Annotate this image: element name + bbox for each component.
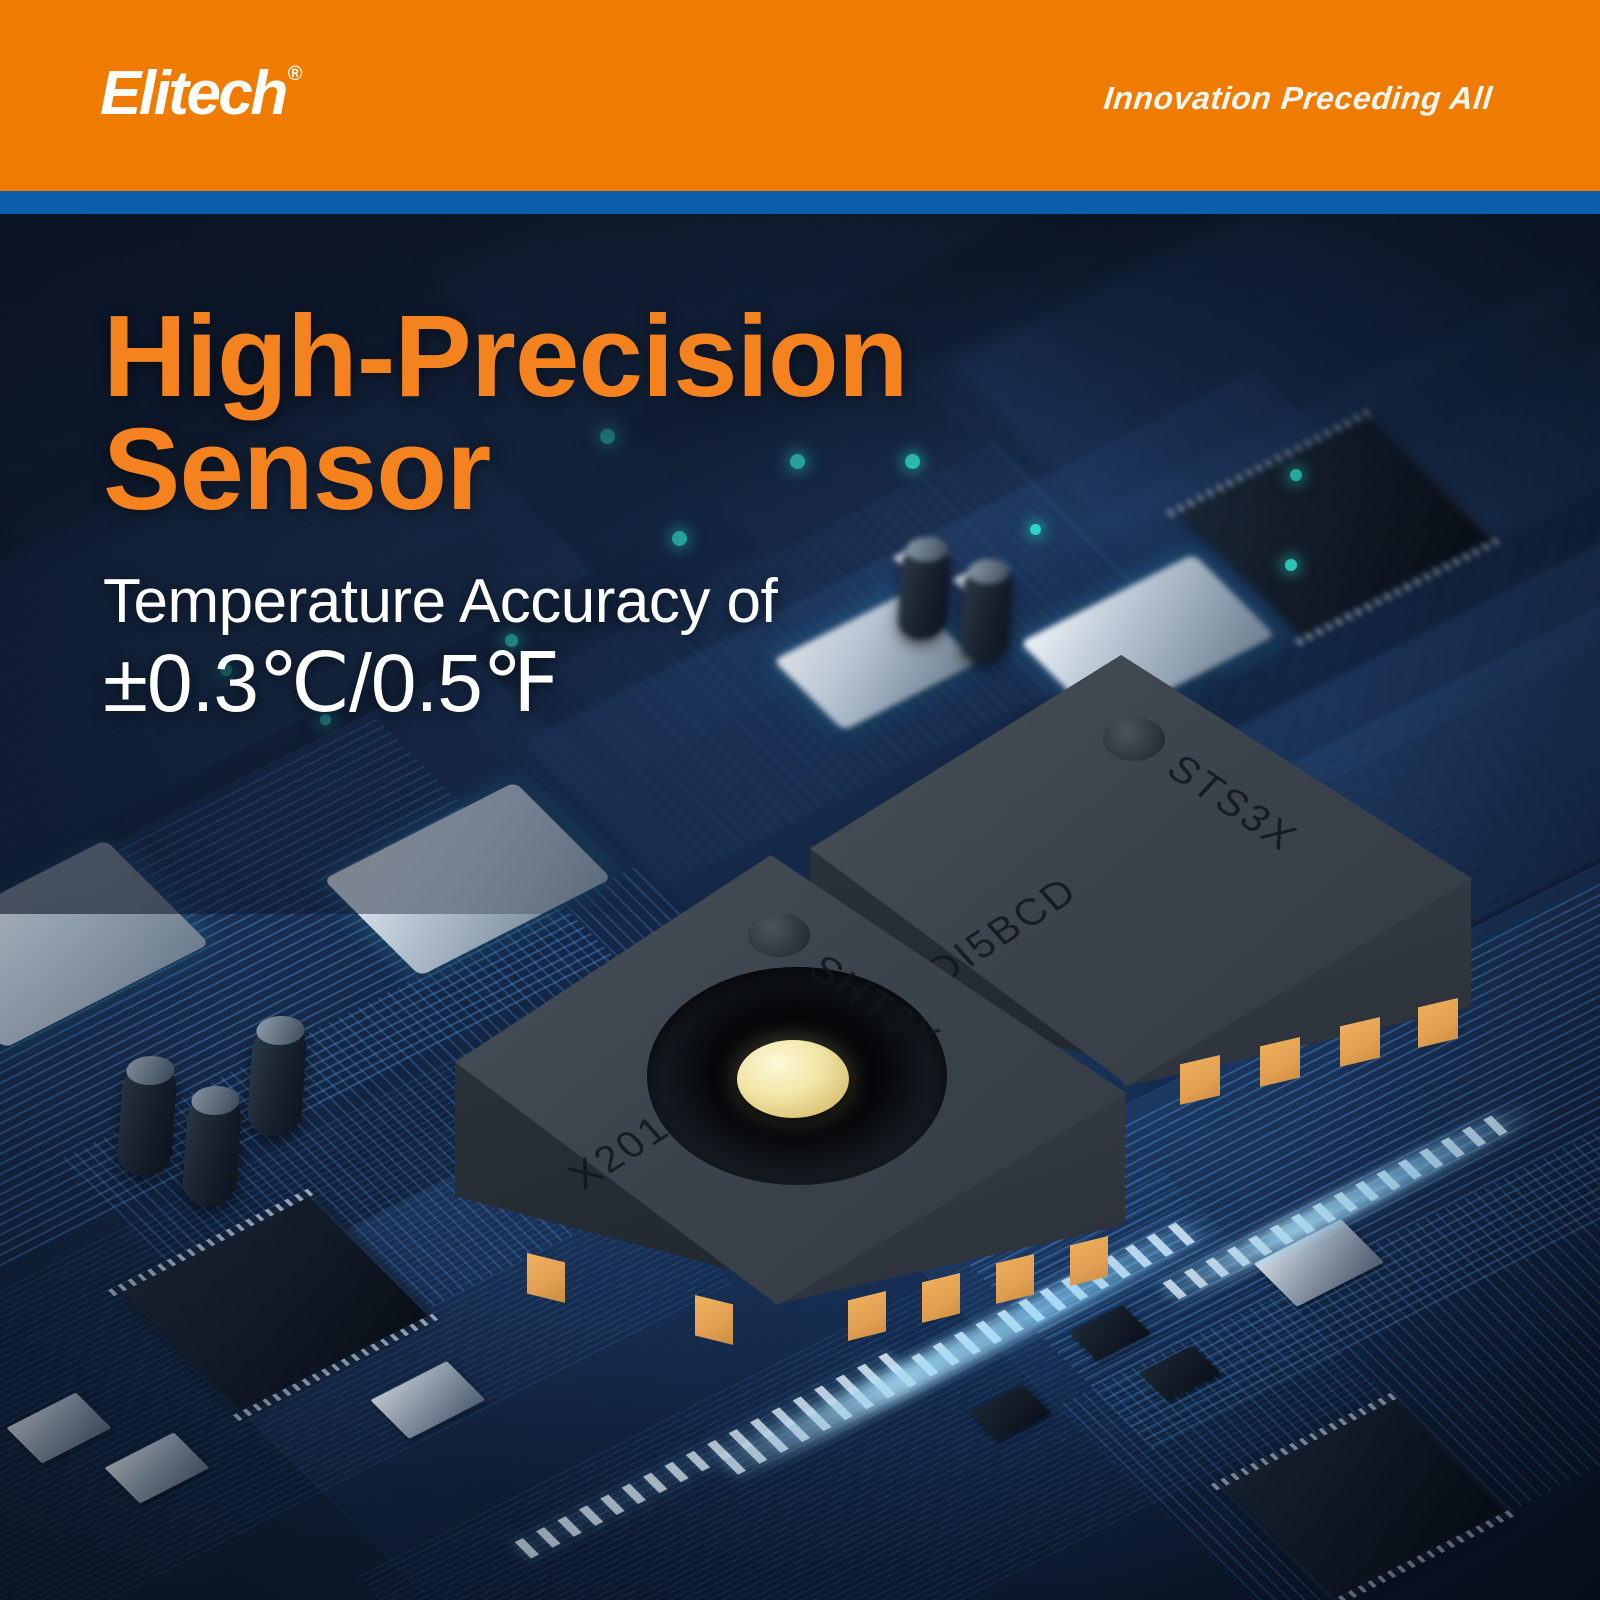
package-orientation-dot [748, 913, 810, 957]
registered-trademark-icon: ® [288, 63, 303, 85]
glow-node [1285, 559, 1297, 571]
hero-copy-block: High-Precision Sensor Temperature Accura… [103, 300, 908, 730]
chip-contact-pad [922, 1273, 960, 1325]
glow-node [1030, 524, 1041, 535]
subheading-text: Temperature Accuracy of [103, 567, 777, 636]
glow-node [1290, 469, 1302, 481]
subheading-block: Temperature Accuracy of ±0.3℃/0.5℉ [103, 565, 908, 730]
chip-contact-pad [996, 1254, 1034, 1306]
chip-contact-pad [848, 1291, 886, 1343]
poster-canvas: STS3X DI5BCD SHT3X X2015 [0, 0, 1600, 1600]
headline-line-1: High-Precision [103, 300, 908, 413]
chip-contact-pad [1070, 1236, 1108, 1288]
brand-logo[interactable]: Elitech® [100, 63, 301, 125]
spec-value: ±0.3℃/0.5℉ [103, 638, 908, 730]
brand-logo-text: Elitech [100, 59, 286, 128]
package-orientation-dot [1103, 717, 1165, 761]
header-accent-stripe [0, 191, 1600, 214]
headline-line-2: Sensor [103, 413, 908, 526]
chip-contact-pad [527, 1253, 565, 1305]
chip-contact-pad [695, 1295, 733, 1347]
brand-tagline: Innovation Preceding All [1102, 80, 1494, 117]
gold-sensor-disc [737, 1040, 849, 1118]
sensor-chip-sht3x[interactable]: SHT3X X2015 [455, 855, 1125, 1495]
